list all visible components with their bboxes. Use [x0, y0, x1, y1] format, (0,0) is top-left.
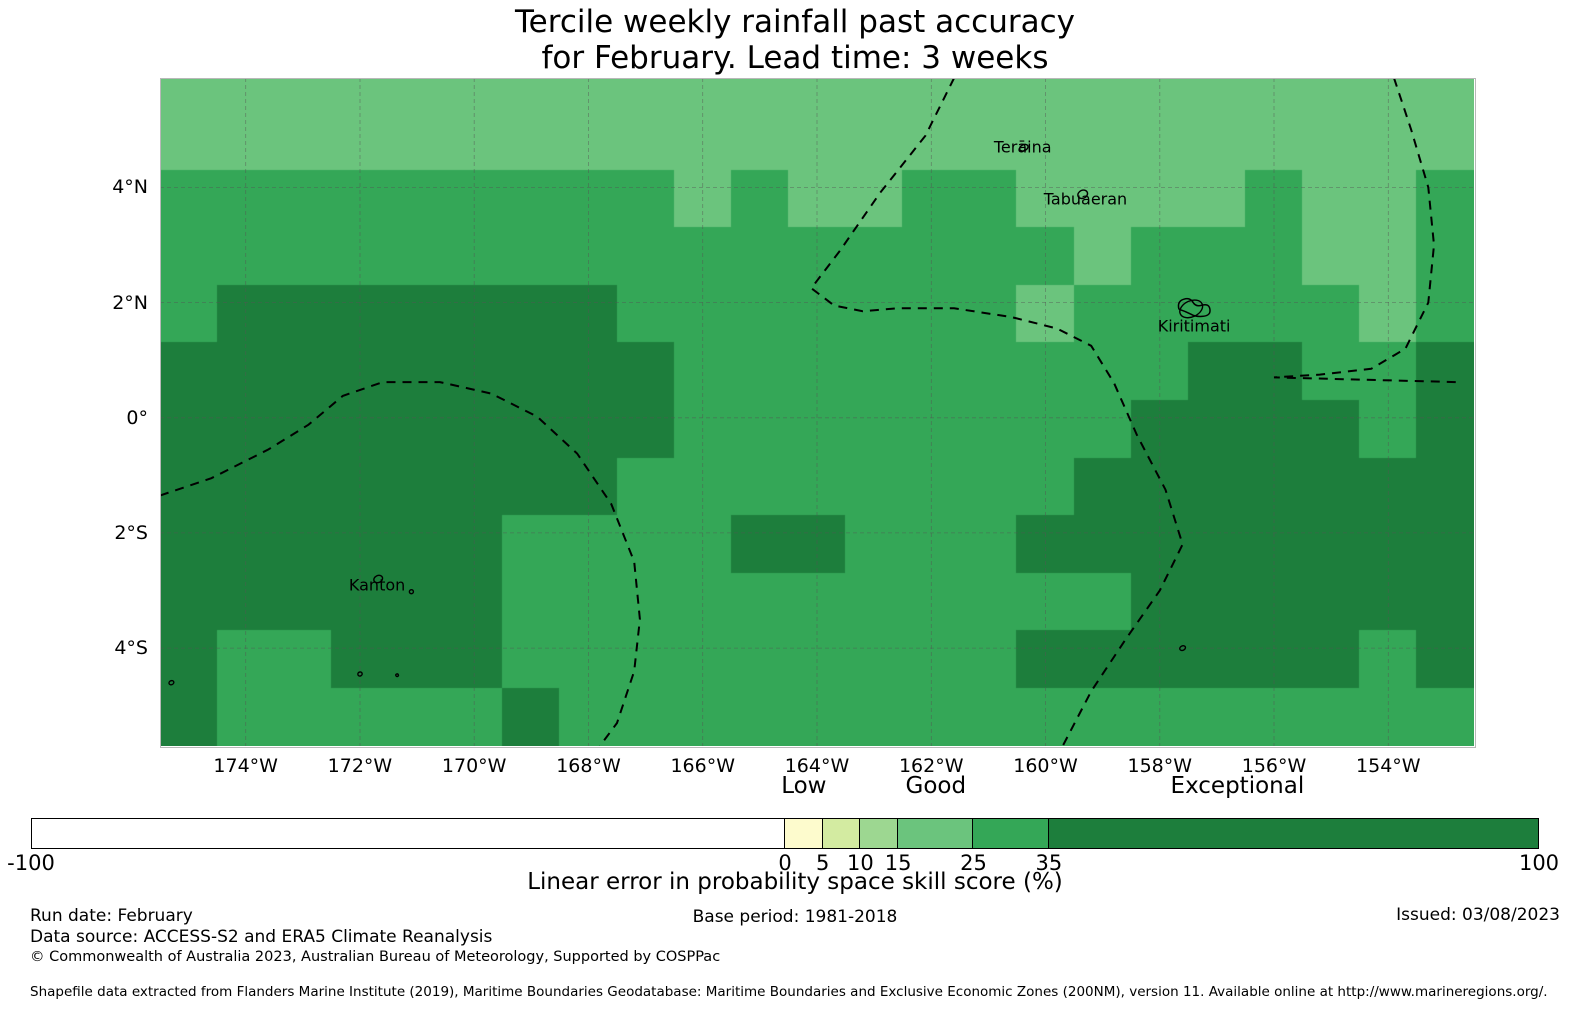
- shapefile-attribution-text: Shapefile data extracted from Flanders M…: [30, 984, 1548, 1000]
- issued-date-text: Issued: 03/08/2023: [1396, 905, 1560, 925]
- copyright-text: © Commonwealth of Australia 2023, Austra…: [30, 948, 720, 967]
- colorbar-axis-label: Linear error in probability space skill …: [0, 869, 1590, 895]
- data-source-text: Data source: ACCESS-S2 and ERA5 Climate …: [30, 927, 720, 948]
- colorbar-tick-labels: -1000510152535100: [0, 0, 1590, 1020]
- figure-root: Tercile weekly rainfall past accuracy fo…: [0, 0, 1590, 1020]
- base-period-text: Base period: 1981-2018: [0, 907, 1590, 927]
